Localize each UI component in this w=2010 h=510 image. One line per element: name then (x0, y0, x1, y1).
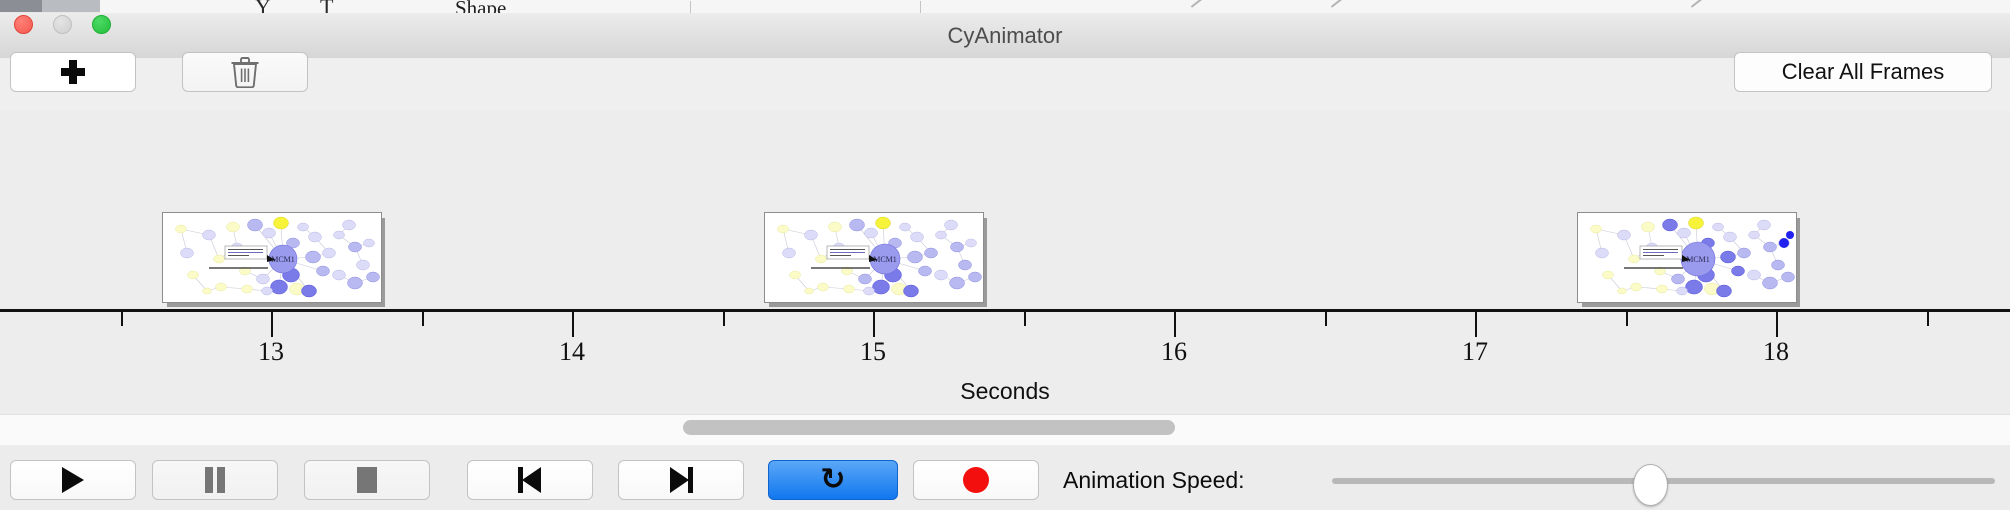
network-graph-thumbnail: MCM1 (765, 213, 983, 302)
background-window-word: Shape (455, 0, 506, 14)
cyanimator-window: Y T Shape CyAnimator Clear All Frames 12… (0, 0, 2010, 510)
network-graph-thumbnail: MCM1 (163, 213, 381, 302)
axis-tick-major (1776, 312, 1778, 337)
animation-speed-slider-thumb[interactable] (1633, 464, 1668, 506)
timeline-axis (0, 309, 2010, 312)
skip-next-button[interactable] (618, 460, 744, 500)
axis-tick-minor (1024, 312, 1026, 326)
frame-thumbnail-image[interactable]: MCM1 (764, 212, 984, 303)
play-button[interactable] (10, 460, 136, 500)
stop-button[interactable] (304, 460, 430, 500)
record-icon (963, 467, 989, 493)
record-button[interactable] (913, 460, 1039, 500)
axis-tick-major (1174, 312, 1176, 337)
axis-tick-minor (422, 312, 424, 326)
loop-button[interactable]: ↻ (768, 460, 898, 500)
axis-tick-label: 15 (860, 337, 886, 367)
axis-tick-label: 17 (1462, 337, 1488, 367)
axis-title: Seconds (0, 378, 2010, 405)
pause-icon (204, 467, 226, 493)
axis-tick-label: 13 (258, 337, 284, 367)
trash-icon (230, 56, 260, 88)
stop-icon (357, 467, 377, 493)
network-graph-thumbnail: MCM1 (1578, 213, 1796, 302)
background-title-gray (42, 0, 100, 12)
skip-previous-icon (518, 467, 542, 493)
axis-tick-label: 18 (1763, 337, 1789, 367)
delete-frame-button[interactable] (182, 52, 308, 92)
axis-tick-minor (1325, 312, 1327, 326)
pause-button[interactable] (152, 460, 278, 500)
animation-speed-label: Animation Speed: (1063, 460, 1245, 500)
axis-tick-major (873, 312, 875, 337)
background-title-dark (0, 0, 42, 12)
plus-icon (60, 59, 86, 85)
axis-tick-major (572, 312, 574, 337)
frame-thumbnail-image[interactable]: MCM1 (1577, 212, 1797, 303)
axis-tick-major (1475, 312, 1477, 337)
play-icon (62, 467, 84, 493)
axis-tick-minor (1927, 312, 1929, 326)
axis-tick-major (271, 312, 273, 337)
background-panel-d (590, 0, 751, 14)
axis-tick-minor (1626, 312, 1628, 326)
loop-icon: ↻ (820, 465, 845, 495)
background-panel-e (750, 0, 2010, 14)
skip-previous-button[interactable] (467, 460, 593, 500)
axis-tick-label: 14 (559, 337, 585, 367)
axis-tick-minor (121, 312, 123, 326)
frame-thumbnail-image[interactable]: MCM1 (162, 212, 382, 303)
timeline-scrollbar-thumb[interactable] (683, 420, 1175, 435)
add-frame-button[interactable] (10, 52, 136, 92)
axis-tick-minor (723, 312, 725, 326)
skip-next-icon (669, 467, 693, 493)
clear-all-frames-button[interactable]: Clear All Frames (1734, 52, 1992, 92)
background-panel-a (100, 0, 241, 14)
axis-tick-label: 16 (1161, 337, 1187, 367)
background-window-strip: Y T Shape (0, 0, 2010, 14)
